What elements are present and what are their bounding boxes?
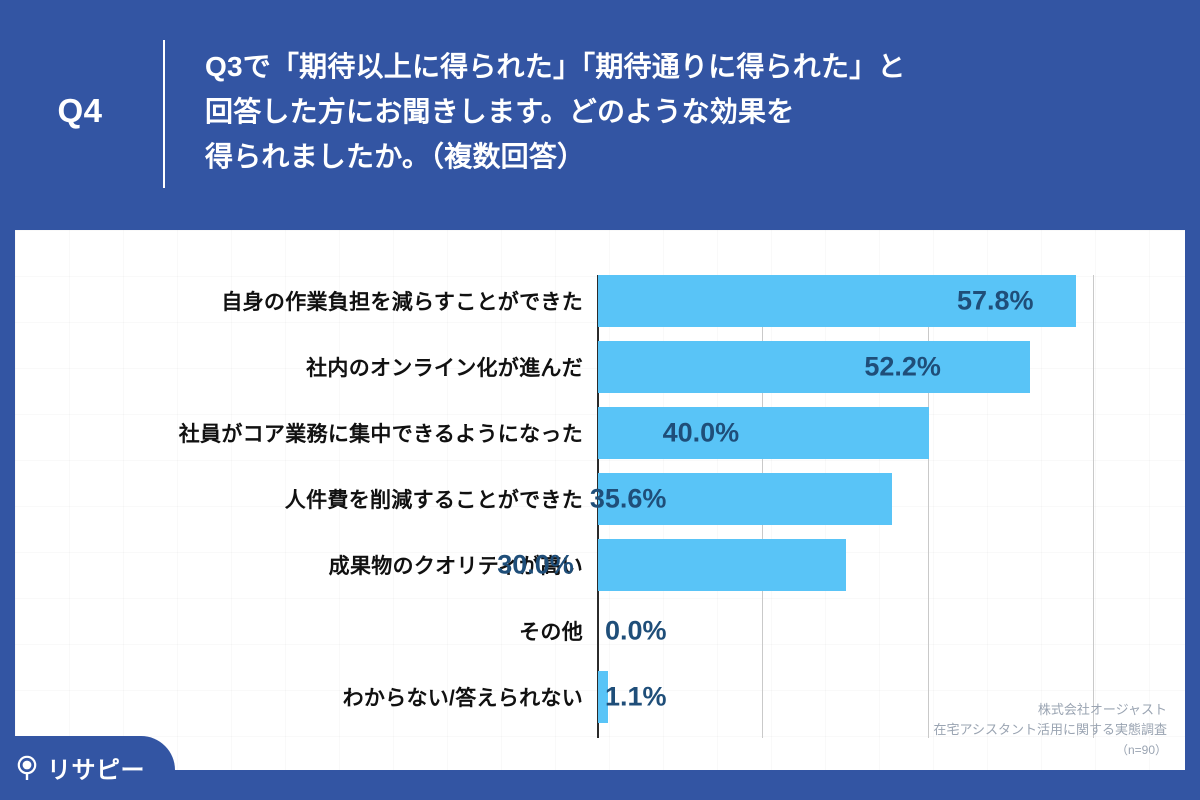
question-line: Q3で「期待以上に得られた」「期待通りに得られた」と xyxy=(205,44,1165,89)
credit-survey: 在宅アシスタント活用に関する実態調査 xyxy=(934,720,1167,740)
header-divider xyxy=(163,40,165,188)
header-band: Q4 Q3で「期待以上に得られた」「期待通りに得られた」と 回答した方にお聞きし… xyxy=(0,0,1200,228)
credit-block: 株式会社オージャスト 在宅アシスタント活用に関する実態調査 （n=90） xyxy=(934,700,1167,760)
brand-logo[interactable]: リサピー xyxy=(0,736,175,800)
logo-text: リサピー xyxy=(47,750,145,785)
bar-value-label: 1.1% xyxy=(605,682,667,713)
bar-value-label: 57.8% xyxy=(957,286,1067,317)
bar-row: 自身の作業負担を減らすことができた57.8% xyxy=(15,275,1185,327)
logo-inner: リサピー xyxy=(16,750,145,785)
bar-row: 人件費を削減することができた35.6% xyxy=(15,473,1185,525)
chart-panel: 自身の作業負担を減らすことができた57.8%社内のオンライン化が進んだ52.2%… xyxy=(15,230,1185,770)
bar-value-label: 52.2% xyxy=(864,352,1020,383)
bar-value-label: 0.0% xyxy=(605,616,667,647)
bar-value-label: 40.0% xyxy=(663,418,920,449)
category-label: わからない/答えられない xyxy=(343,682,583,712)
slide-root: Q4 Q3で「期待以上に得られた」「期待通りに得られた」と 回答した方にお聞きし… xyxy=(0,0,1200,800)
category-label: その他 xyxy=(519,616,583,646)
category-label: 社内のオンライン化が進んだ xyxy=(306,352,583,382)
question-line: 得られましたか。（複数回答） xyxy=(205,134,1165,179)
bar-chart: 自身の作業負担を減らすことができた57.8%社内のオンライン化が進んだ52.2%… xyxy=(15,230,1185,770)
bar-row: 成果物のクオリティが高い30.0% xyxy=(15,539,1185,591)
credit-company: 株式会社オージャスト xyxy=(934,700,1167,720)
category-label: 人件費を削減することができた xyxy=(285,484,583,514)
question-number: Q4 xyxy=(0,92,160,130)
question-line: 回答した方にお聞きします。どのような効果を xyxy=(205,89,1165,134)
bar-value-label: 30.0% xyxy=(497,550,837,581)
magnifier-icon xyxy=(16,755,40,781)
category-label: 社員がコア業務に集中できるようになった xyxy=(179,418,583,448)
question-text: Q3で「期待以上に得られた」「期待通りに得られた」と 回答した方にお聞きします。… xyxy=(205,44,1165,179)
bar-row: 社員がコア業務に集中できるようになった40.0% xyxy=(15,407,1185,459)
category-label: 自身の作業負担を減らすことができた xyxy=(221,286,583,316)
bar-row: その他0.0% xyxy=(15,605,1185,657)
credit-sample-size: （n=90） xyxy=(934,740,1167,760)
bar-value-label: 35.6% xyxy=(590,484,884,515)
bar-row: 社内のオンライン化が進んだ52.2% xyxy=(15,341,1185,393)
